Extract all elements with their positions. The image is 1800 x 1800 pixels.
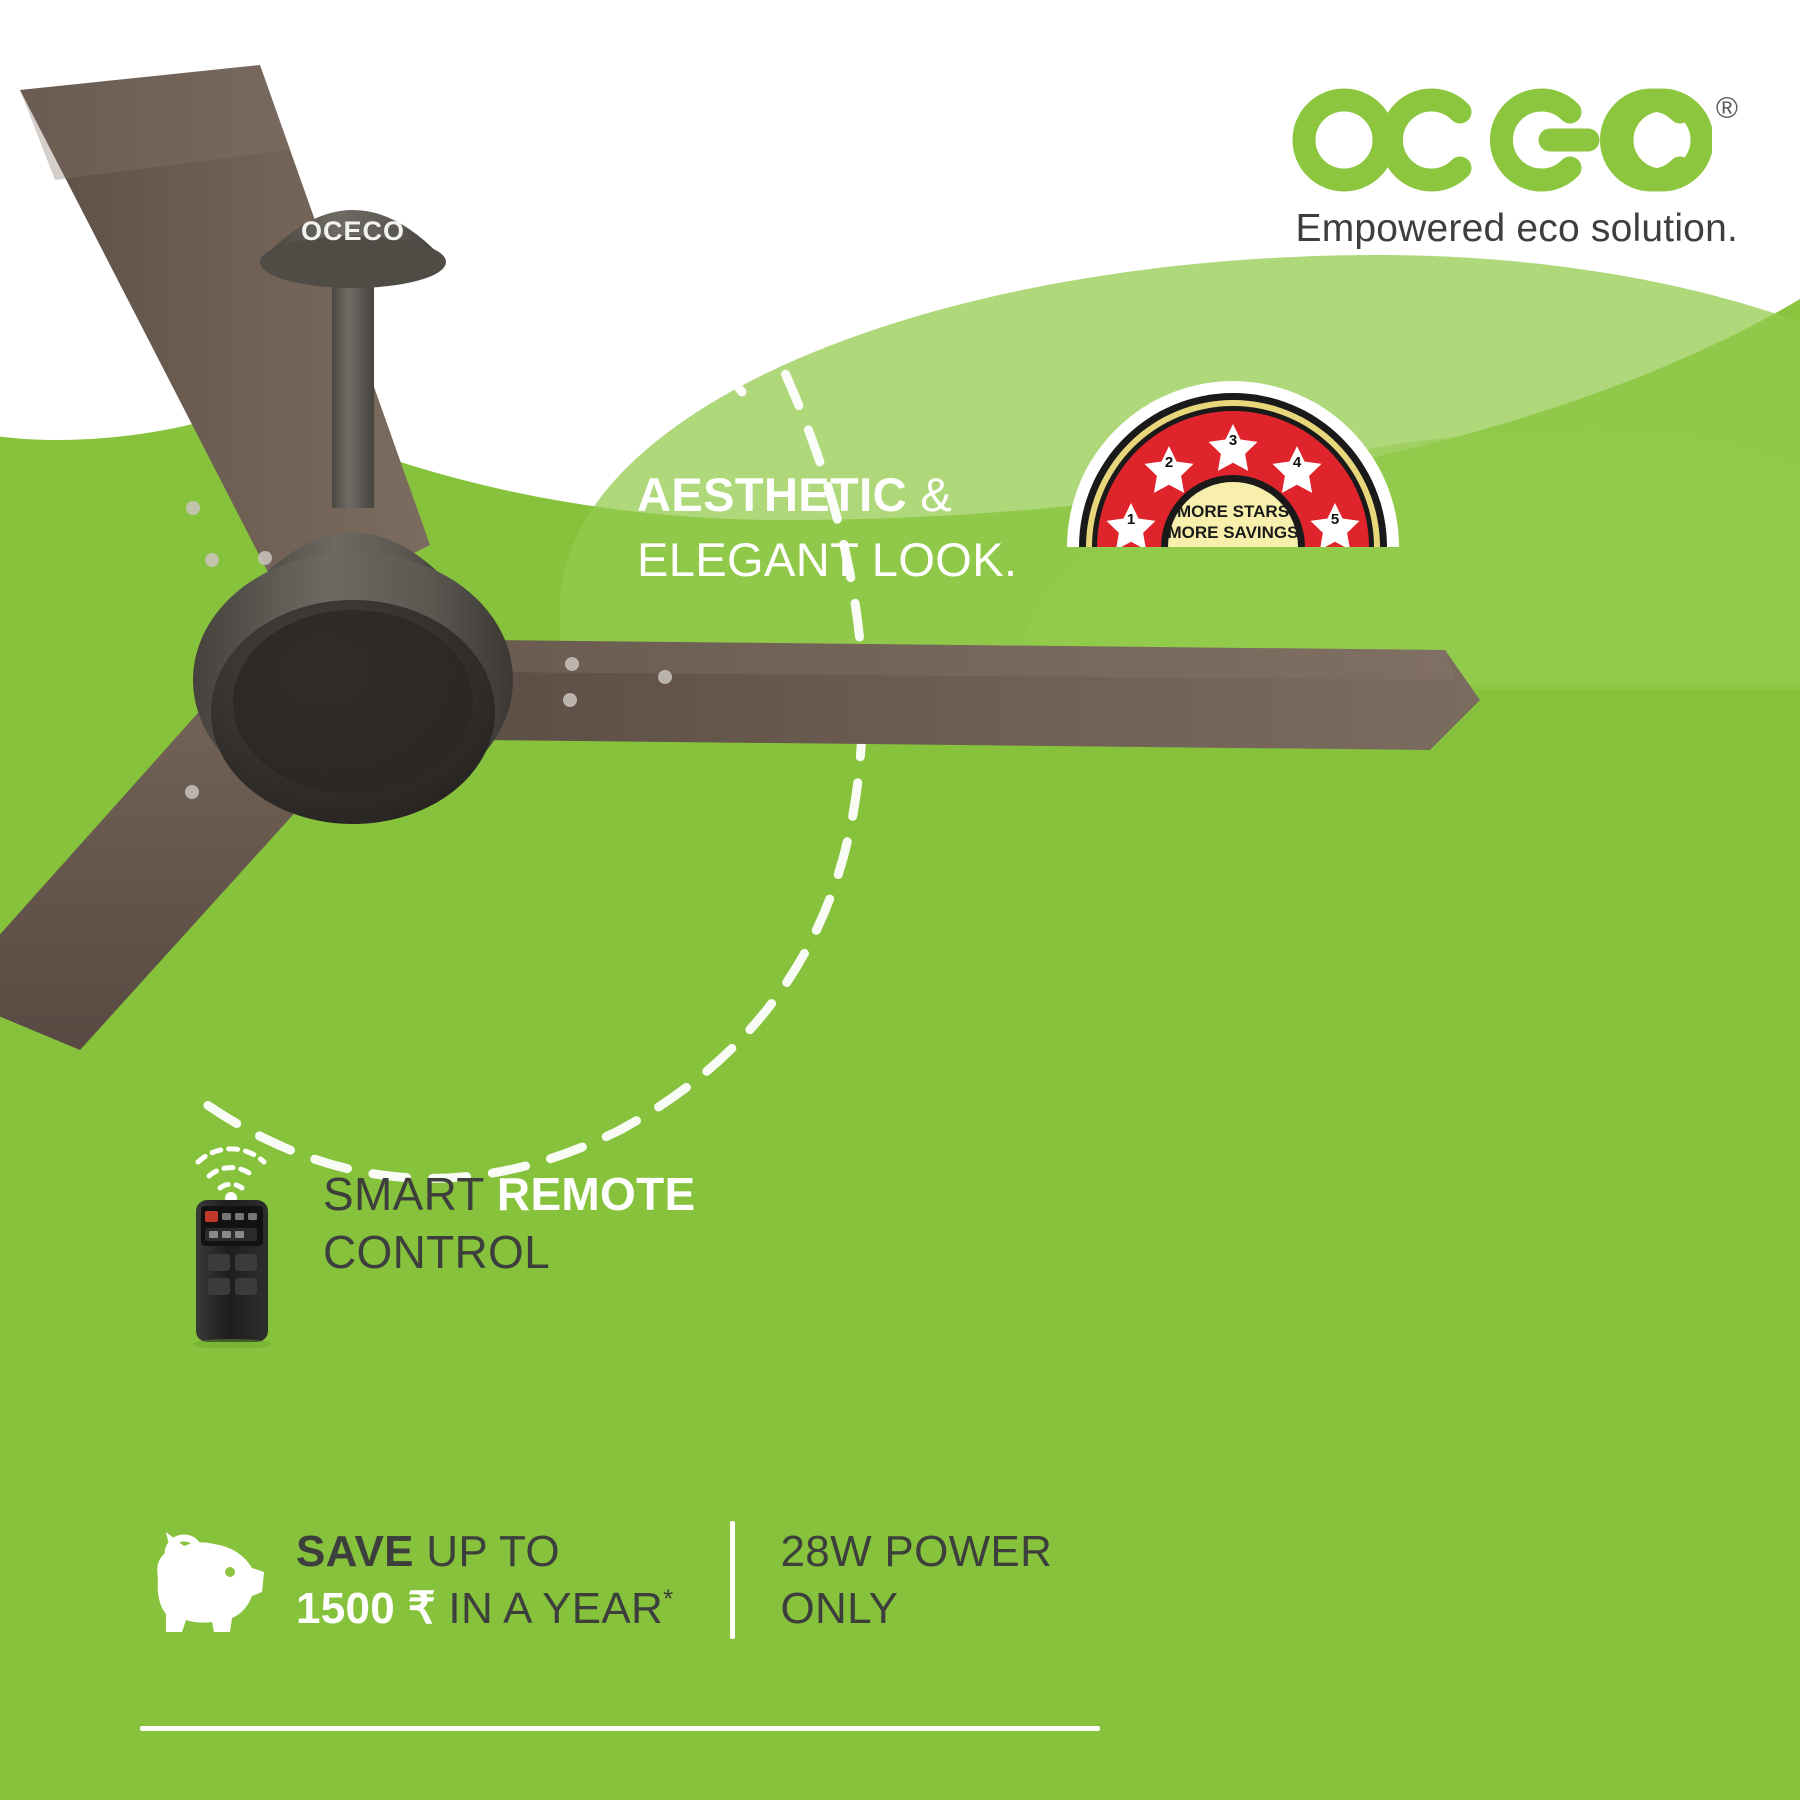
registered-trademark-symbol: ®	[1716, 92, 1738, 126]
headline-line-2: ELEGANT LOOK.	[637, 531, 1017, 588]
headline-block: AESTHETIC & ELEGANT LOOK.	[637, 466, 1017, 589]
headline-bold-word: AESTHETIC	[637, 468, 907, 521]
fan-downrod	[332, 278, 374, 508]
brand-logo-block: ® Empowered eco solution.	[1292, 88, 1738, 251]
bee-energy-star-rating-badge: 1 2 3 4 5 MORE STARS MORE SAVINGS	[1063, 372, 1403, 547]
savings-footnote-mark: *	[663, 1583, 673, 1613]
svg-text:5: 5	[1331, 511, 1339, 528]
svg-text:1: 1	[1127, 511, 1135, 528]
svg-text:₹: ₹	[178, 1545, 190, 1566]
remote-signal-waves	[198, 1149, 264, 1188]
remote-text-line-1: SMART REMOTE	[323, 1166, 696, 1224]
remote-control-icon	[168, 1118, 318, 1348]
smart-remote-feature: SMART REMOTE CONTROL	[168, 1118, 868, 1348]
bottom-horizontal-rule	[140, 1726, 1100, 1731]
savings-upto-word: UP TO	[414, 1527, 560, 1576]
power-line-2: ONLY	[781, 1580, 1053, 1637]
power-text-block: 28W POWER ONLY	[781, 1523, 1053, 1637]
headline-line-1: AESTHETIC &	[637, 466, 1017, 523]
oceco-logo-icon	[1292, 88, 1712, 193]
remote-text-smart: SMART	[323, 1168, 497, 1220]
headline-ampersand: &	[907, 468, 952, 521]
savings-text-block: SAVE UP TO 1500 ₹ IN A YEAR*	[296, 1523, 674, 1637]
product-advertisement-poster: OCECO	[0, 0, 1800, 1800]
piggy-bank-icon: ₹	[140, 1520, 270, 1640]
canopy-brand-text: OCECO	[301, 216, 405, 246]
power-line-1: 28W POWER	[781, 1523, 1053, 1580]
badge-center-line-2: MORE SAVINGS	[1168, 523, 1299, 542]
savings-and-power-row: ₹ SAVE UP TO 1500 ₹ IN A YEAR* 28W POWER…	[140, 1520, 1052, 1640]
savings-period: IN A YEAR	[436, 1584, 663, 1633]
savings-line-1: SAVE UP TO	[296, 1523, 674, 1580]
svg-text:4: 4	[1293, 454, 1302, 471]
remote-feature-text: SMART REMOTE CONTROL	[323, 1166, 696, 1281]
brand-logo-mark: ®	[1292, 88, 1738, 193]
vertical-divider	[730, 1521, 735, 1639]
remote-text-line-2: CONTROL	[323, 1224, 696, 1282]
savings-amount: 1500 ₹	[296, 1584, 436, 1633]
savings-save-word: SAVE	[296, 1527, 414, 1576]
brand-tagline: Empowered eco solution.	[1292, 207, 1738, 251]
savings-line-2: 1500 ₹ IN A YEAR*	[296, 1580, 674, 1637]
remote-text-remote: REMOTE	[497, 1168, 696, 1220]
svg-text:2: 2	[1165, 454, 1173, 471]
badge-center-line-1: MORE STARS	[1177, 502, 1289, 521]
svg-text:3: 3	[1229, 432, 1237, 449]
